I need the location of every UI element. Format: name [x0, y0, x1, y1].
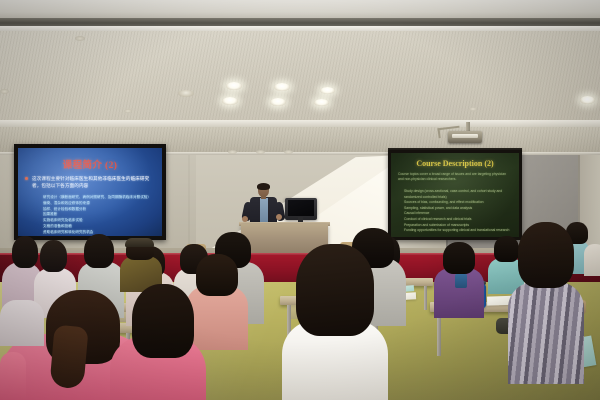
audience-member — [508, 282, 584, 384]
downlight-icon — [226, 82, 242, 90]
ceiling-upper-soffit — [0, 0, 600, 20]
audience-member — [0, 352, 26, 400]
audience-hair — [84, 234, 114, 268]
monitor-screen — [288, 200, 314, 216]
desk-leg — [437, 312, 441, 356]
ceiling-vent-icon — [75, 36, 85, 41]
audience-hair — [518, 222, 574, 288]
downlight-icon — [270, 98, 286, 106]
ceiling-vent-icon — [256, 150, 265, 154]
presenter-hair — [257, 183, 270, 190]
projector-lens — [452, 134, 478, 138]
ceiling-vent-icon — [469, 107, 477, 111]
right-screen-hotspot — [391, 153, 519, 237]
ceiling-vent-icon — [228, 150, 237, 154]
audience-hair — [296, 244, 374, 336]
downlight-icon — [320, 87, 335, 94]
presenter-right-hand — [276, 214, 282, 220]
lecture-hall-photo: 课程简介 (2) 这次课程主要针对临床医生和其他非临床医生的临床研究者，包括以下… — [0, 0, 600, 400]
ceiling-vent-icon — [0, 89, 9, 94]
downlight-icon — [580, 96, 595, 104]
left-screen-hotspot — [18, 148, 162, 236]
desk-leg — [424, 286, 427, 310]
cap-icon — [125, 238, 154, 247]
audience-hair — [196, 254, 238, 296]
lanyard-icon — [455, 274, 467, 288]
ceiling-perforation-texture — [0, 31, 600, 126]
presenter-shirt — [260, 198, 268, 224]
audience-hair — [40, 240, 67, 272]
ceiling-vent-icon — [284, 150, 293, 154]
ceiling-diffuser-icon — [178, 90, 194, 97]
audience-hair — [12, 236, 38, 268]
ceiling-vent-icon — [124, 109, 132, 113]
downlight-icon — [274, 83, 290, 91]
audience-hair — [132, 284, 194, 358]
audience-member — [584, 244, 600, 276]
audience-member — [0, 300, 44, 346]
audience-hair — [494, 236, 519, 262]
downlight-icon — [222, 97, 238, 105]
audience-hair — [443, 242, 475, 274]
downlight-icon — [314, 99, 329, 106]
